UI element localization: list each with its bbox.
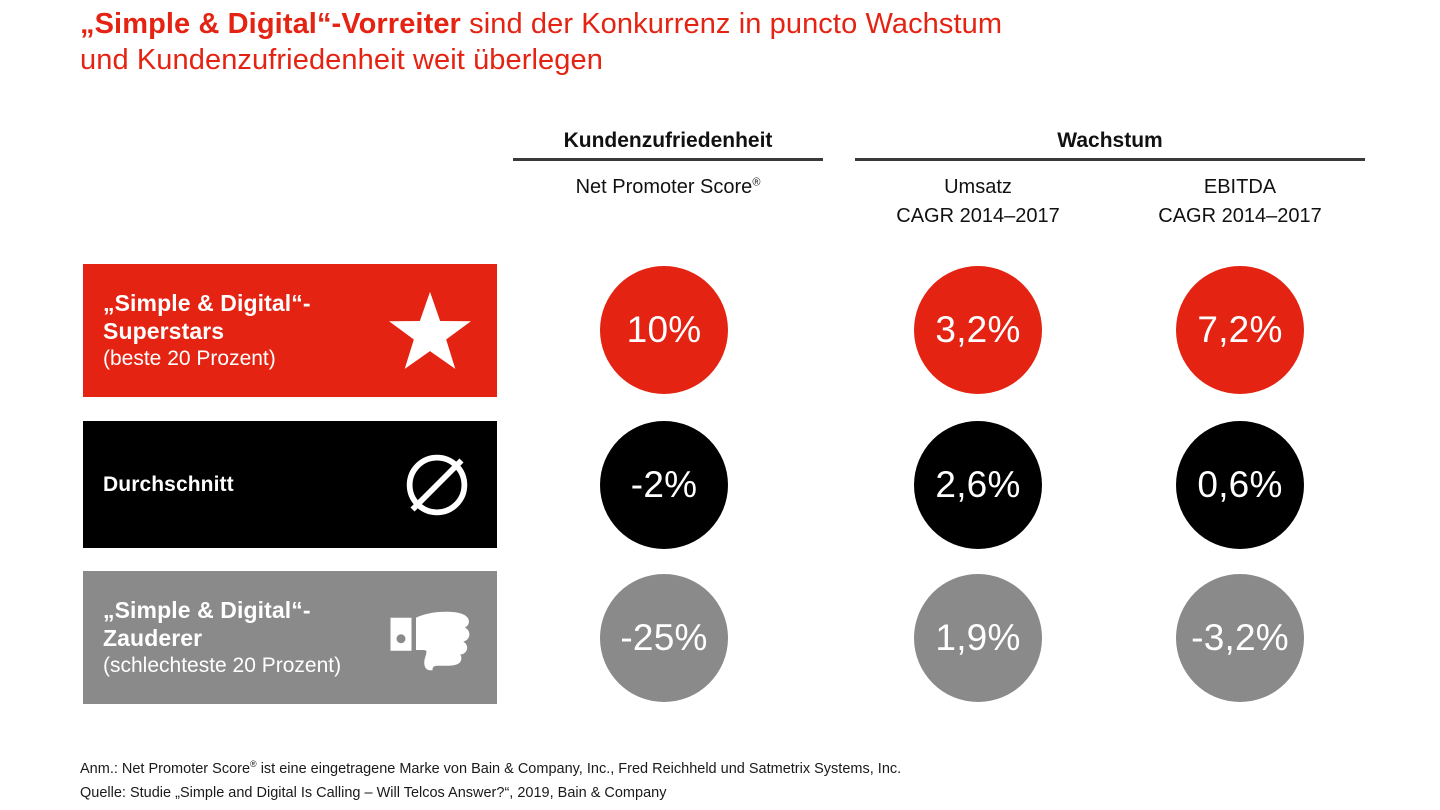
page-title-rest: sind der Konkurrenz in puncto Wachstum: [461, 8, 1002, 40]
category-label-superstars: „Simple & Digital“- Superstars (beste 20…: [103, 289, 311, 373]
value-bubble-zauderer-nps: -25%: [600, 574, 728, 702]
value-text: 2,6%: [935, 464, 1020, 506]
column-header-umsatz-line1: Umsatz: [944, 176, 1012, 198]
footnote-source: Quelle: Studie „Simple and Digital Is Ca…: [80, 782, 666, 804]
value-bubble-durchschnitt-ebitda: 0,6%: [1176, 421, 1304, 549]
value-bubble-superstars-umsatz: 3,2%: [914, 266, 1042, 394]
column-header-nps: Net Promoter Score®: [513, 173, 823, 202]
infographic-canvas: „Simple & Digital“-Vorreiter sind der Ko…: [0, 0, 1440, 810]
value-text: 7,2%: [1197, 309, 1282, 351]
page-title: „Simple & Digital“-Vorreiter sind der Ko…: [80, 6, 1400, 78]
registered-trademark-icon: ®: [250, 759, 257, 769]
value-text: 3,2%: [935, 309, 1020, 351]
category-label-durchschnitt: Durchschnitt: [103, 472, 234, 498]
thumbs-down-icon: [389, 605, 473, 671]
column-header-umsatz-line2: CAGR 2014–2017: [896, 205, 1059, 227]
diameter-average-icon: [401, 449, 473, 521]
category-label-zauderer-line2: Zauderer: [103, 624, 341, 652]
column-group-wachstum: Wachstum: [855, 128, 1365, 154]
column-header-umsatz: Umsatz CAGR 2014–2017: [855, 173, 1101, 231]
category-band-durchschnitt: Durchschnitt: [83, 421, 497, 548]
column-header-ebitda-line1: EBITDA: [1204, 176, 1276, 198]
column-group-kundenzufriedenheit: Kundenzufriedenheit: [513, 128, 823, 154]
value-text: -3,2%: [1191, 617, 1289, 659]
value-bubble-zauderer-umsatz: 1,9%: [914, 574, 1042, 702]
rule-wachstum: [855, 158, 1365, 161]
category-label-superstars-line1: „Simple & Digital“-: [103, 289, 311, 317]
value-bubble-durchschnitt-umsatz: 2,6%: [914, 421, 1042, 549]
value-bubble-durchschnitt-nps: -2%: [600, 421, 728, 549]
category-band-superstars: „Simple & Digital“- Superstars (beste 20…: [83, 264, 497, 397]
category-label-zauderer-line3: (schlechteste 20 Prozent): [103, 652, 341, 680]
registered-trademark-icon: ®: [752, 176, 760, 188]
value-text: -25%: [620, 617, 707, 659]
star-icon: [387, 290, 473, 372]
category-label-durchschnitt-line1: Durchschnitt: [103, 472, 234, 498]
page-title-line2: und Kundenzufriedenheit weit überlegen: [80, 44, 603, 76]
value-bubble-superstars-nps: 10%: [600, 266, 728, 394]
category-label-superstars-line2: Superstars: [103, 317, 311, 345]
footnote-note: Anm.: Net Promoter Score® ist eine einge…: [80, 758, 901, 780]
footnote-note-rest: ist eine eingetragene Marke von Bain & C…: [257, 761, 902, 777]
value-bubble-zauderer-ebitda: -3,2%: [1176, 574, 1304, 702]
column-header-ebitda: EBITDA CAGR 2014–2017: [1117, 173, 1363, 231]
category-label-superstars-line3: (beste 20 Prozent): [103, 345, 311, 373]
category-label-zauderer-line1: „Simple & Digital“-: [103, 596, 341, 624]
value-text: 10%: [627, 309, 702, 351]
column-header-ebitda-line2: CAGR 2014–2017: [1158, 205, 1321, 227]
column-header-nps-line1: Net Promoter Score: [576, 176, 753, 198]
value-text: -2%: [631, 464, 697, 506]
footnote-note-prefix: Anm.: Net Promoter Score: [80, 761, 250, 777]
value-bubble-superstars-ebitda: 7,2%: [1176, 266, 1304, 394]
value-text: 0,6%: [1197, 464, 1282, 506]
category-band-zauderer: „Simple & Digital“- Zauderer (schlechtes…: [83, 571, 497, 704]
page-title-bold: „Simple & Digital“-Vorreiter: [80, 8, 461, 40]
rule-kundenzufriedenheit: [513, 158, 823, 161]
value-text: 1,9%: [935, 617, 1020, 659]
category-label-zauderer: „Simple & Digital“- Zauderer (schlechtes…: [103, 596, 341, 680]
